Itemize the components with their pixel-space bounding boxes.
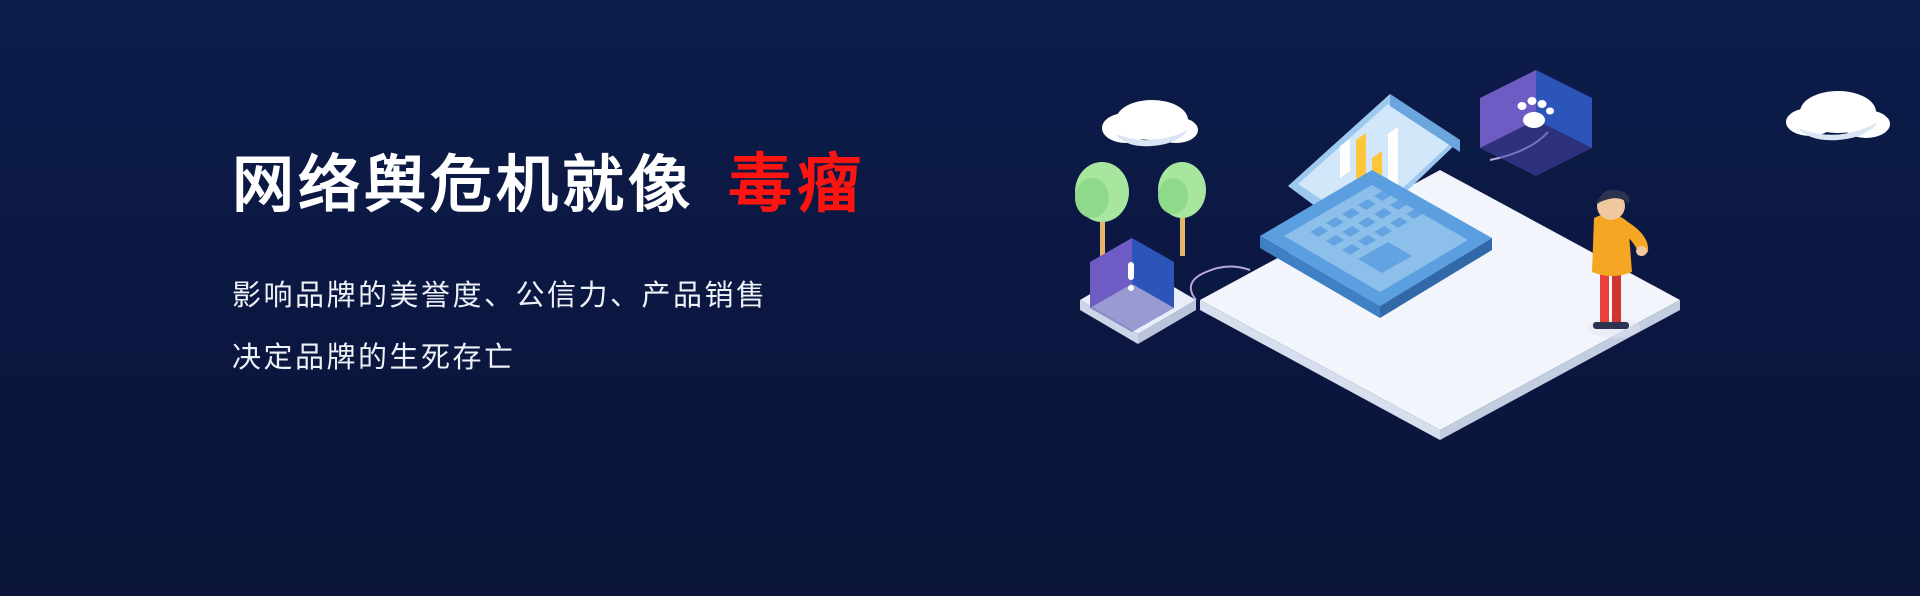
cloud-left-icon (1102, 100, 1198, 146)
hero-subtitle: 影响品牌的美誉度、公信力、产品销售 决定品牌的生死存亡 (232, 282, 992, 373)
hero-copy: 网络舆危机就像 毒瘤 影响品牌的美誉度、公信力、产品销售 决定品牌的生死存亡 (232, 150, 992, 373)
paw-panel-icon (1480, 70, 1592, 176)
headline-primary-text: 网络舆危机就像 (232, 153, 694, 220)
subtitle-line-2: 决定品牌的生死存亡 (232, 344, 992, 373)
subtitle-line-1: 影响品牌的美誉度、公信力、产品销售 (232, 282, 992, 311)
headline-accent-text: 毒瘤 (728, 150, 866, 219)
hero-banner: 网络舆危机就像 毒瘤 影响品牌的美誉度、公信力、产品销售 决定品牌的生死存亡 (0, 0, 1920, 596)
cloud-right-icon (1786, 91, 1890, 140)
page-title: 网络舆危机就像 毒瘤 (232, 150, 992, 220)
tree-right-icon (1158, 162, 1206, 256)
exclamation-glyph-icon (1128, 262, 1134, 291)
hero-illustration (1020, 0, 1920, 596)
